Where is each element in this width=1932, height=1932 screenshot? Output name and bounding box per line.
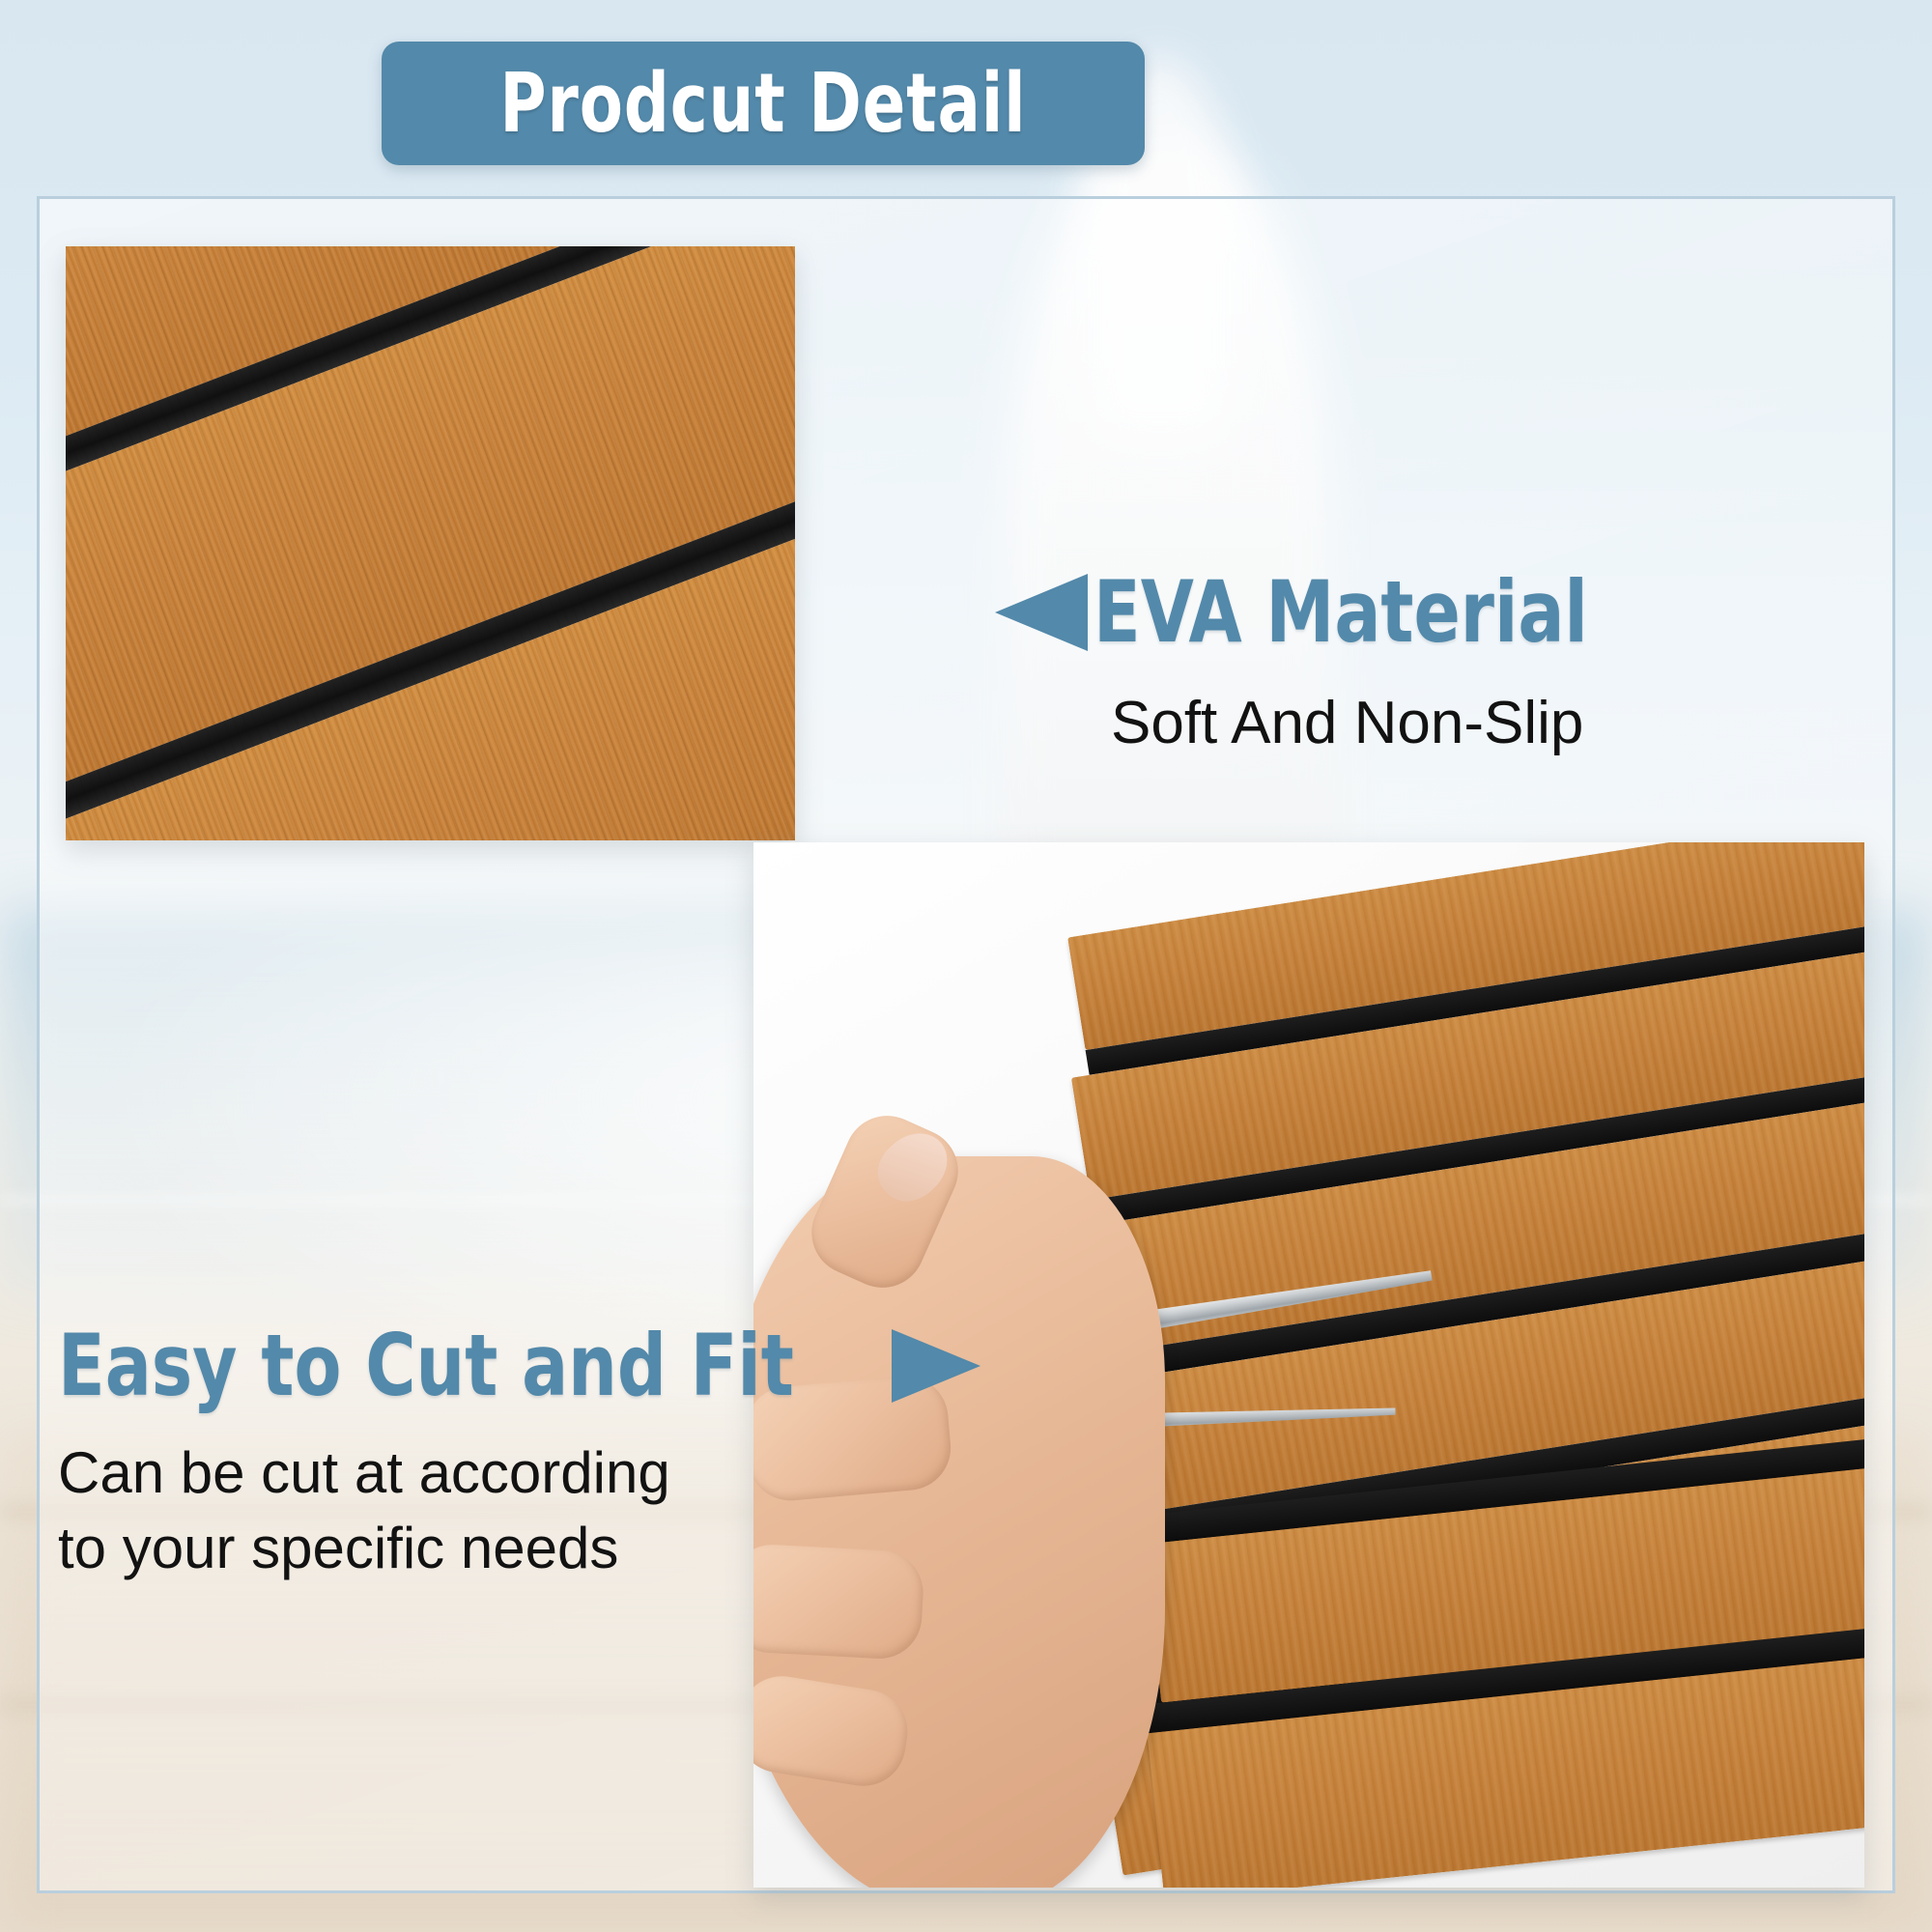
title-banner: Prodcut Detail (382, 42, 1145, 165)
callout-subtext-line1: Can be cut at according (58, 1435, 980, 1511)
eva-sheet-illustration (66, 246, 795, 840)
callout-heading: Easy to Cut and Fit (58, 1323, 794, 1408)
arrow-right-icon (892, 1329, 980, 1403)
callout-easy-to-cut: Easy to Cut and Fit Can be cut at accord… (58, 1323, 980, 1586)
page-title: Prodcut Detail (499, 56, 1026, 152)
callout-eva-material: EVA Material Soft And Non-Slip (995, 570, 1643, 761)
finger (753, 1670, 914, 1792)
callout-subtext: Soft And Non-Slip (1111, 686, 1643, 761)
arrow-left-icon (995, 574, 1088, 651)
callout-heading-row: Easy to Cut and Fit (58, 1323, 980, 1408)
photo-eva-sheet-closeup (66, 246, 795, 840)
callout-heading-row: EVA Material (995, 570, 1643, 655)
callout-subtext-line2: to your specific needs (58, 1511, 980, 1586)
callout-heading: EVA Material (1094, 570, 1588, 655)
